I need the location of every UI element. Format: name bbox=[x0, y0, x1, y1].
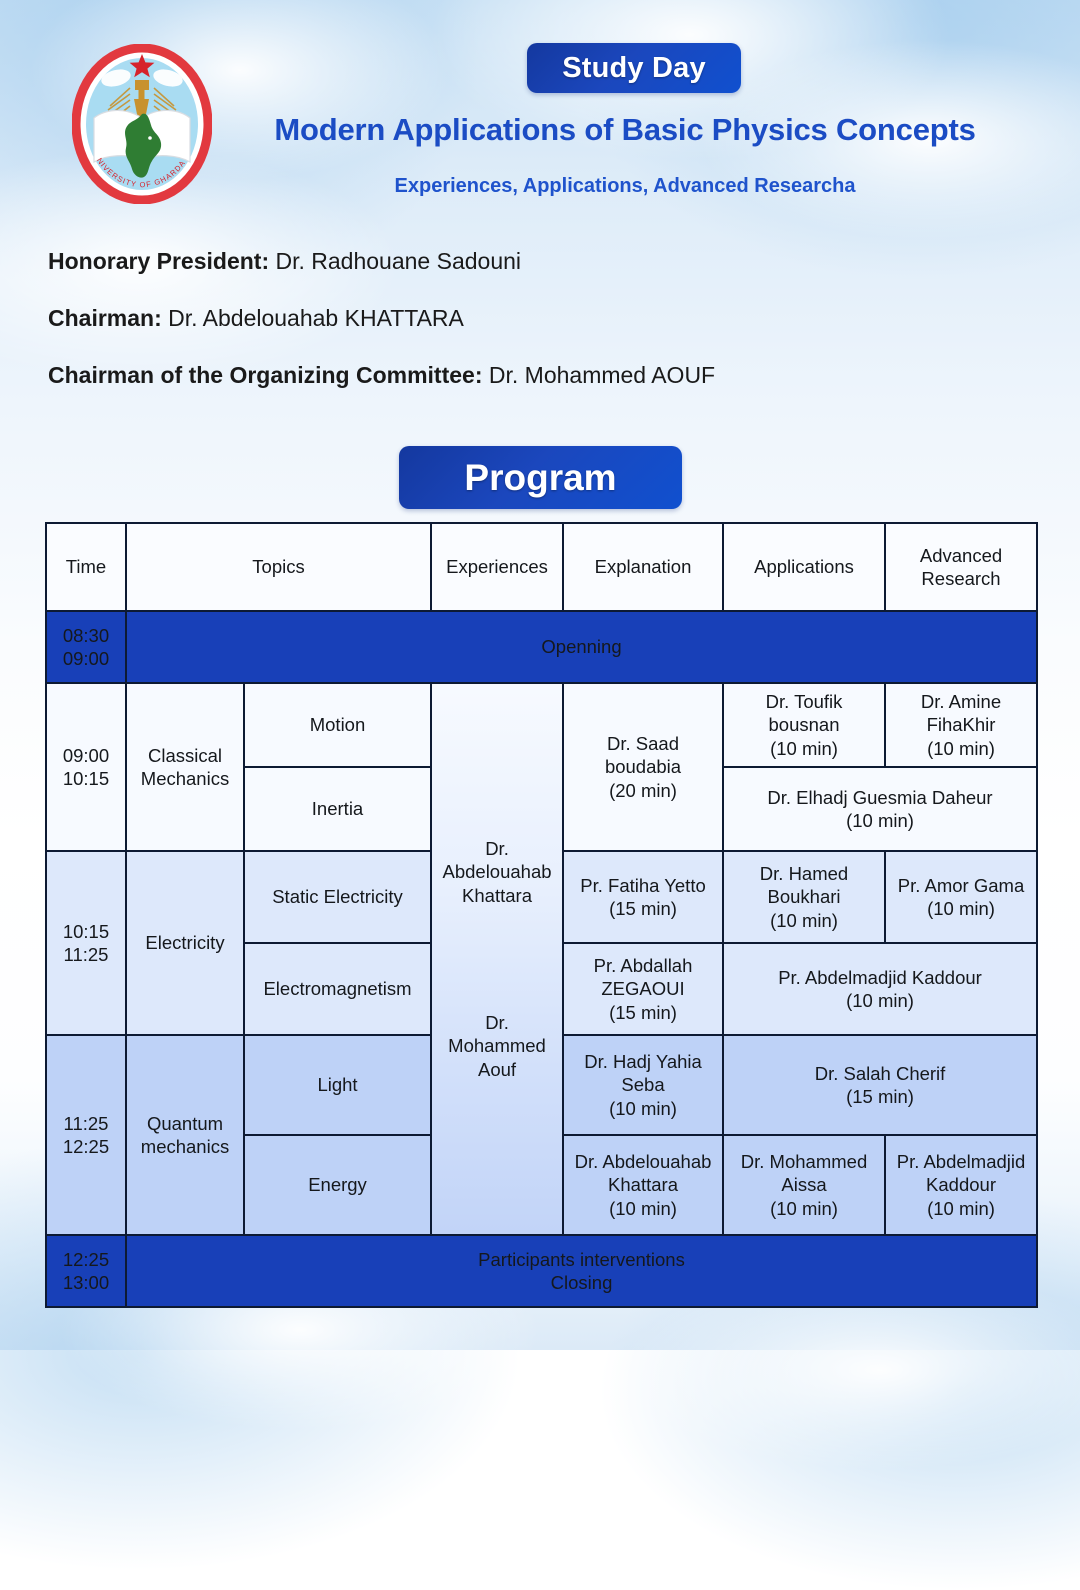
topic-quantum-mechanics: Quantum mechanics bbox=[126, 1035, 244, 1235]
applications-advanced-inertia: Dr. Elhadj Guesmia Daheur (10 min) bbox=[723, 767, 1037, 851]
subtopic-inertia: Inertia bbox=[244, 767, 431, 851]
official-person: Dr. Radhouane Sadouni bbox=[269, 248, 521, 274]
applications-energy: Dr. Mohammed Aissa (10 min) bbox=[723, 1135, 885, 1235]
explanation-energy: Dr. Abdelouahab Khattara (10 min) bbox=[563, 1135, 723, 1235]
applications-advanced-light: Dr. Salah Cherif (15 min) bbox=[723, 1035, 1037, 1135]
closing-line-1: Participants interventions bbox=[132, 1248, 1031, 1271]
closing-time-end: 13:00 bbox=[52, 1271, 120, 1294]
explanation-classical-mechanics: Dr. Saad boudabia (20 min) bbox=[563, 683, 723, 851]
time-start: 10:15 bbox=[52, 920, 120, 943]
program-badge: Program bbox=[399, 446, 682, 509]
time-start: 09:00 bbox=[52, 744, 120, 767]
table-row-opening: 08:30 09:00 Openning bbox=[46, 611, 1037, 683]
explanation-light: Dr. Hadj Yahia Seba (10 min) bbox=[563, 1035, 723, 1135]
experiences-presenter-2: Dr. Mohammed Aouf bbox=[437, 1011, 557, 1081]
topic-electricity: Electricity bbox=[126, 851, 244, 1035]
study-day-badge: Study Day bbox=[527, 43, 741, 93]
advanced-research-static-electricity: Pr. Amor Gama (10 min) bbox=[885, 851, 1037, 943]
time-end: 10:15 bbox=[52, 767, 120, 790]
experiences-presenters: Dr. Abdelouahab Khattara Dr. Mohammed Ao… bbox=[431, 683, 563, 1235]
column-header-advanced-research: Advanced Research bbox=[885, 523, 1037, 611]
official-honorary-president: Honorary President: Dr. Radhouane Sadoun… bbox=[48, 248, 1028, 275]
closing-time: 12:25 13:00 bbox=[46, 1235, 126, 1307]
subtopic-light: Light bbox=[244, 1035, 431, 1135]
block-time-quantum-mechanics: 11:25 12:25 bbox=[46, 1035, 126, 1235]
program-table-header: Time Topics Experiences Explanation Appl… bbox=[46, 523, 1037, 611]
column-header-topics: Topics bbox=[126, 523, 431, 611]
official-role: Honorary President: bbox=[48, 248, 269, 274]
time-start: 11:25 bbox=[52, 1112, 120, 1135]
subtopic-motion: Motion bbox=[244, 683, 431, 767]
topic-classical-mechanics: Classical Mechanics bbox=[126, 683, 244, 851]
official-chairman: Chairman: Dr. Abdelouahab KHATTARA bbox=[48, 305, 1028, 332]
subtopic-energy: Energy bbox=[244, 1135, 431, 1235]
program-table: Time Topics Experiences Explanation Appl… bbox=[45, 522, 1038, 1308]
time-end: 12:25 bbox=[52, 1135, 120, 1158]
page-subtitle: Experiences, Applications, Advanced Rese… bbox=[210, 175, 1040, 198]
closing-label: Participants interventions Closing bbox=[126, 1235, 1037, 1307]
subtopic-electromagnetism: Electromagnetism bbox=[244, 943, 431, 1035]
time-end: 11:25 bbox=[52, 943, 120, 966]
table-row-motion: 09:00 10:15 Classical Mechanics Motion D… bbox=[46, 683, 1037, 767]
applications-advanced-electromagnetism: Pr. Abdelmadjid Kaddour (10 min) bbox=[723, 943, 1037, 1035]
official-person: Dr. Abdelouahab KHATTARA bbox=[162, 305, 464, 331]
advanced-research-energy: Pr. Abdelmadjid Kaddour (10 min) bbox=[885, 1135, 1037, 1235]
opening-time-end: 09:00 bbox=[52, 647, 120, 670]
experiences-presenter-1: Dr. Abdelouahab Khattara bbox=[437, 837, 557, 907]
official-role: Chairman of the Organizing Committee: bbox=[48, 362, 482, 388]
column-header-experiences: Experiences bbox=[431, 523, 563, 611]
closing-time-start: 12:25 bbox=[52, 1248, 120, 1271]
applications-static-electricity: Dr. Hamed Boukhari (10 min) bbox=[723, 851, 885, 943]
official-person: Dr. Mohammed AOUF bbox=[482, 362, 715, 388]
explanation-static-electricity: Pr. Fatiha Yetto (15 min) bbox=[563, 851, 723, 943]
table-row-closing: 12:25 13:00 Participants interventions C… bbox=[46, 1235, 1037, 1307]
opening-time-start: 08:30 bbox=[52, 624, 120, 647]
opening-label: Openning bbox=[126, 611, 1037, 683]
official-role: Chairman: bbox=[48, 305, 162, 331]
advanced-research-motion: Dr. Amine FihaKhir (10 min) bbox=[885, 683, 1037, 767]
explanation-electromagnetism: Pr. Abdallah ZEGAOUI (15 min) bbox=[563, 943, 723, 1035]
table-header-row: Time Topics Experiences Explanation Appl… bbox=[46, 523, 1037, 611]
column-header-applications: Applications bbox=[723, 523, 885, 611]
column-header-time: Time bbox=[46, 523, 126, 611]
university-logo: UNIVERSITY OF GHARDAIA bbox=[72, 44, 212, 204]
column-header-explanation: Explanation bbox=[563, 523, 723, 611]
program-table-body: 08:30 09:00 Openning 09:00 10:15 Classic… bbox=[46, 611, 1037, 1307]
page-title: Modern Applications of Basic Physics Con… bbox=[210, 112, 1040, 148]
block-time-electricity: 10:15 11:25 bbox=[46, 851, 126, 1035]
opening-time: 08:30 09:00 bbox=[46, 611, 126, 683]
official-organizing-committee-chairman: Chairman of the Organizing Committee: Dr… bbox=[48, 362, 1028, 389]
officials-list: Honorary President: Dr. Radhouane Sadoun… bbox=[48, 248, 1028, 419]
block-time-classical-mechanics: 09:00 10:15 bbox=[46, 683, 126, 851]
closing-line-2: Closing bbox=[132, 1271, 1031, 1294]
applications-motion: Dr. Toufik bousnan (10 min) bbox=[723, 683, 885, 767]
subtopic-static-electricity: Static Electricity bbox=[244, 851, 431, 943]
